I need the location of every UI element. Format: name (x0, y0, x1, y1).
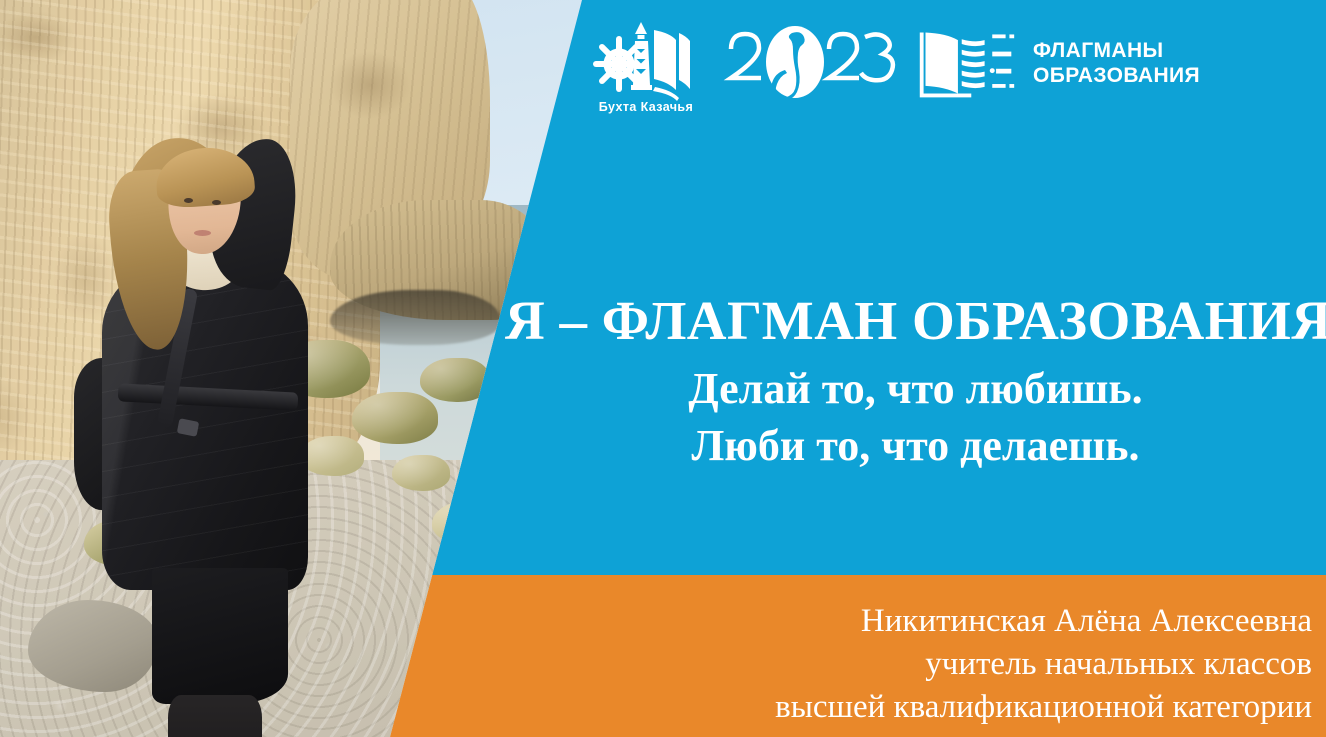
presentation-slide: Бухта Казачья (0, 0, 1326, 737)
author-name: Никитинская Алёна Алексеевна (552, 600, 1312, 643)
subtitle-line-1: Делай то, что любишь. (505, 361, 1326, 417)
kazachya-caption: Бухта Казачья (599, 100, 693, 114)
year-2023-logo (723, 21, 898, 107)
legs (168, 695, 262, 737)
woman-figure (60, 120, 350, 737)
eye (184, 198, 193, 203)
flagmany-obrazovaniya-logo: ФЛАГМАНЫ ОБРАЗОВАНИЯ (914, 23, 1200, 105)
lips (194, 230, 211, 236)
mossy-rock (392, 455, 450, 491)
kazachya-bay-logo: Бухта Казачья (585, 12, 707, 116)
logo-bar: Бухта Казачья (585, 14, 1200, 114)
slide-title: Я – ФЛАГМАН ОБРАЗОВАНИЯ (505, 292, 1326, 349)
author-credit: Никитинская Алёна Алексеевна учитель нач… (552, 600, 1312, 729)
subtitle-line-2: Люби то, что делаешь. (505, 418, 1326, 474)
flagmany-line1: ФЛАГМАНЫ (1033, 39, 1200, 64)
flagmany-wordmark: ФЛАГМАНЫ ОБРАЗОВАНИЯ (1033, 39, 1200, 89)
pelican-2023-icon (723, 21, 898, 107)
ships-wheel-lighthouse-book-icon: Бухта Казачья (585, 12, 707, 116)
black-skirt (152, 568, 288, 704)
headline-block: Я – ФЛАГМАН ОБРАЗОВАНИЯ Делай то, что лю… (505, 292, 1326, 474)
mossy-rock (352, 392, 438, 444)
open-book-icon (914, 23, 1019, 105)
author-category: высшей квалификационной категории (552, 686, 1312, 729)
flagmany-line2: ОБРАЗОВАНИЯ (1033, 64, 1200, 89)
eye (212, 200, 221, 205)
author-role: учитель начальных классов (552, 643, 1312, 686)
rock-shadow (330, 290, 500, 345)
